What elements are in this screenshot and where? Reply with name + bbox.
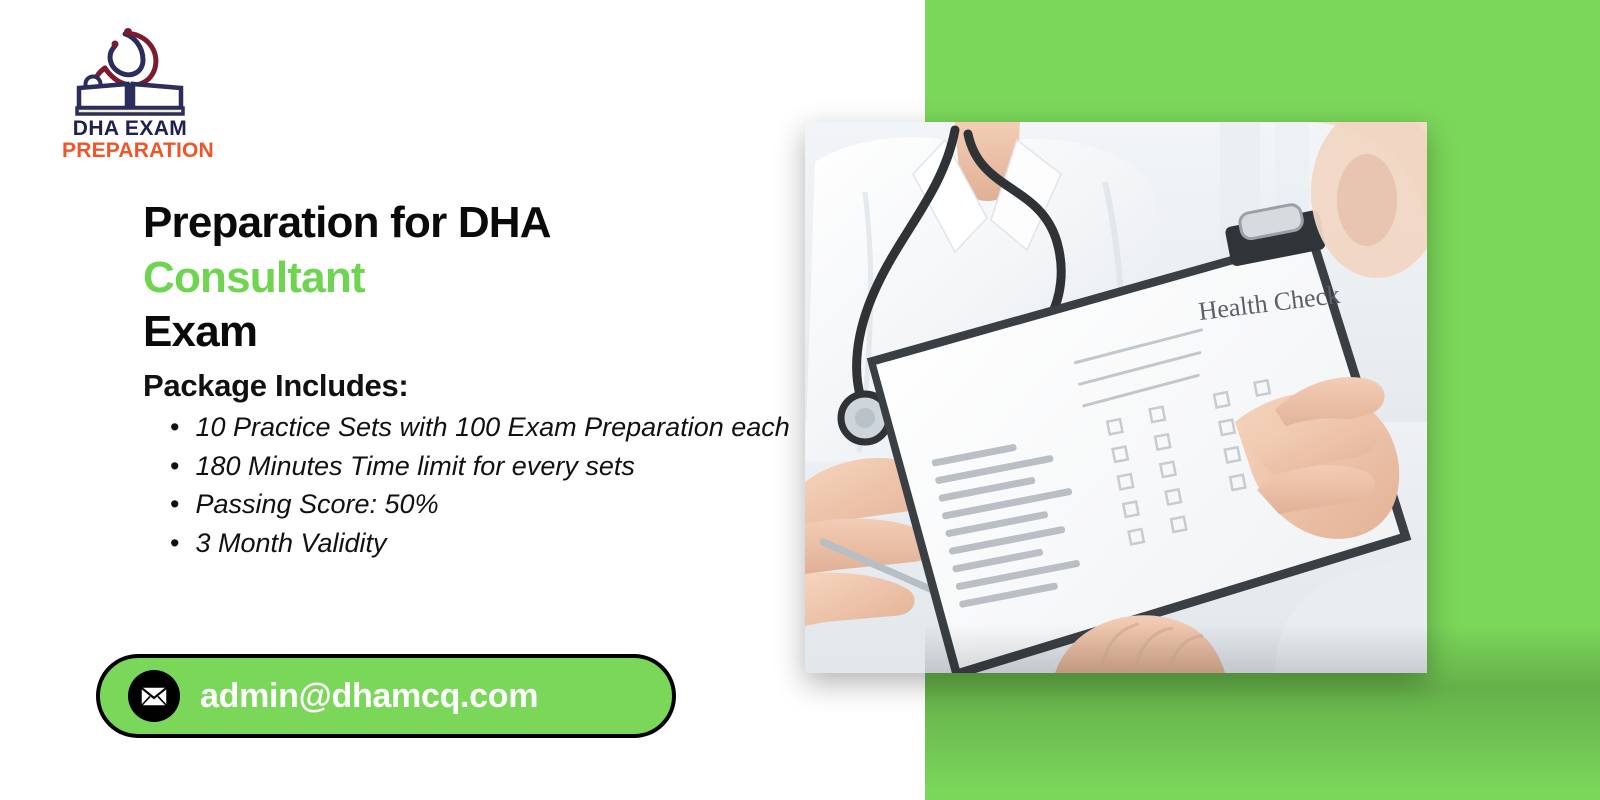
email-contact-button[interactable]: admin@dhamcq.com: [96, 654, 676, 738]
brand-logo: DHA EXAM PREPARATION: [62, 24, 198, 162]
list-item: • 10 Practice Sets with 100 Exam Prepara…: [170, 410, 810, 445]
list-item: • 3 Month Validity: [170, 526, 810, 561]
logo-text-line2: PREPARATION: [62, 140, 198, 162]
hero-photo: Health Check: [805, 122, 1427, 673]
headline-line-2-accent: Consultant: [143, 251, 843, 306]
page-title: Preparation for DHA Consultant Exam: [143, 196, 843, 360]
headline-line-3: Exam: [143, 305, 843, 360]
package-includes-title: Package Includes:: [143, 368, 408, 404]
email-address-label: admin@dhamcq.com: [200, 677, 538, 716]
bullet-glyph: •: [170, 449, 179, 484]
list-item-text: 180 Minutes Time limit for every sets: [195, 449, 634, 484]
list-item-text: 10 Practice Sets with 100 Exam Preparati…: [195, 410, 789, 445]
headline-line-1: Preparation for DHA: [143, 196, 843, 251]
package-includes-list: • 10 Practice Sets with 100 Exam Prepara…: [170, 410, 810, 564]
list-item-text: 3 Month Validity: [195, 526, 386, 561]
list-item-text: Passing Score: 50%: [195, 487, 438, 522]
list-item: • Passing Score: 50%: [170, 487, 810, 522]
envelope-glyph: [140, 686, 168, 707]
photo-illustration: Health Check: [805, 122, 1427, 673]
list-item: • 180 Minutes Time limit for every sets: [170, 449, 810, 484]
stethoscope-over-book-icon: [71, 24, 189, 116]
bullet-glyph: •: [170, 487, 179, 522]
bullet-glyph: •: [170, 410, 179, 445]
envelope-icon: [128, 670, 180, 722]
logo-text-line1: DHA EXAM: [62, 118, 198, 140]
bullet-glyph: •: [170, 526, 179, 561]
